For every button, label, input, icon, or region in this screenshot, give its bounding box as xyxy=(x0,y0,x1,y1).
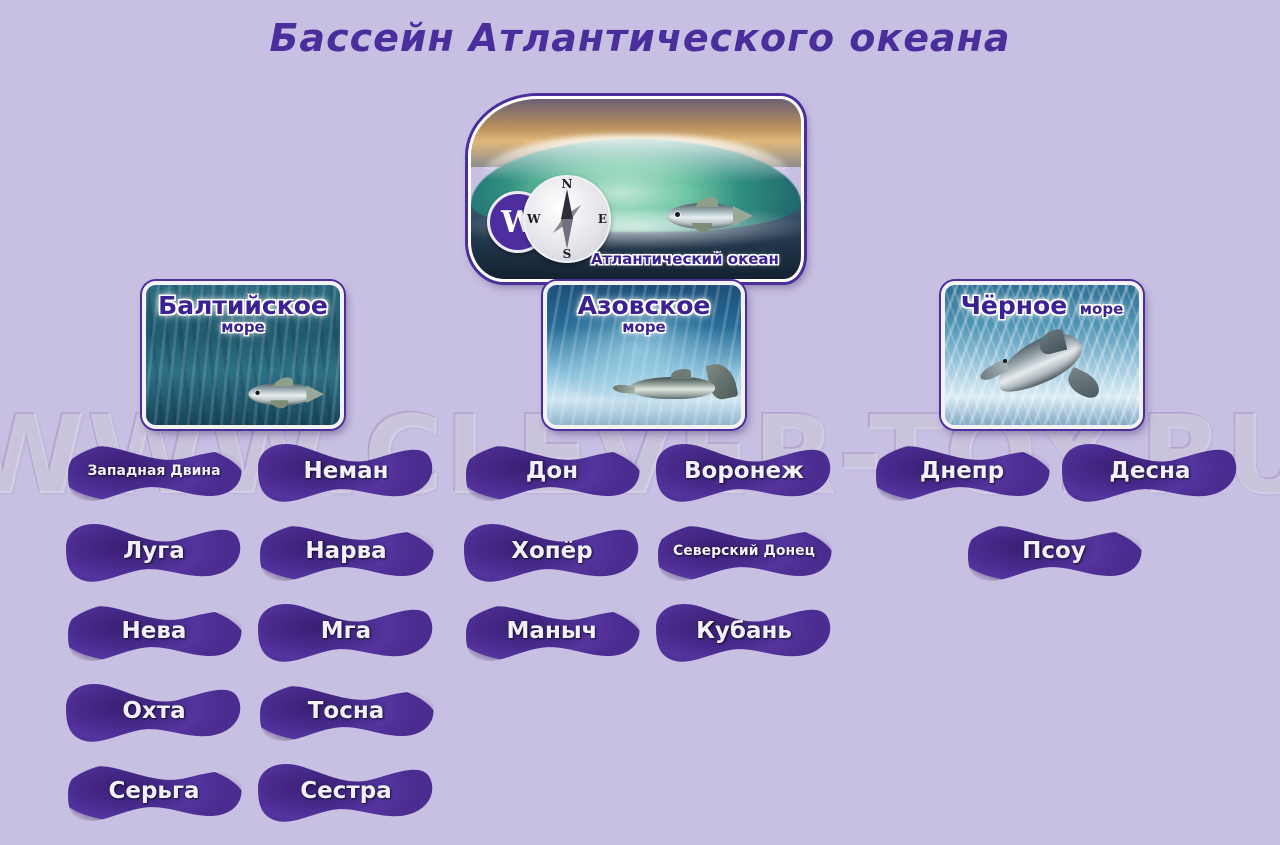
river-blob[interactable]: Кубань xyxy=(652,600,836,662)
river-blob[interactable]: Серьга xyxy=(62,760,246,822)
sea-title-black: Чёрное море xyxy=(945,293,1139,319)
river-blob[interactable]: Маныч xyxy=(460,600,644,662)
ocean-card-atlantic[interactable]: W N E S W Атлантический океан xyxy=(468,96,804,282)
poster-canvas: WWW.CLEVER-TOY.RU Бассейн Атлантического… xyxy=(0,0,1280,845)
river-blob[interactable]: Охта xyxy=(62,680,246,742)
river-blob[interactable]: Псоу xyxy=(962,520,1146,582)
sea-card-black[interactable]: Чёрное море xyxy=(941,281,1143,429)
river-label: Северский Донец xyxy=(673,543,815,559)
river-blob[interactable]: Днепр xyxy=(870,440,1054,502)
river-blob[interactable]: Северский Донец xyxy=(652,520,836,582)
river-label: Нарва xyxy=(305,538,386,564)
river-blob[interactable]: Сестра xyxy=(254,760,438,822)
river-label: Маныч xyxy=(507,618,598,644)
compass-label-north: N xyxy=(562,177,573,191)
river-blob[interactable]: Луга xyxy=(62,520,246,582)
river-label: Воронеж xyxy=(684,458,804,484)
river-blob[interactable]: Хопёр xyxy=(460,520,644,582)
salmon-fish-icon xyxy=(236,383,324,408)
river-label: Хопёр xyxy=(511,538,593,564)
compass-label-east: E xyxy=(598,212,607,226)
sea-kind-baltic: море xyxy=(146,320,340,336)
river-blob[interactable]: Тосна xyxy=(254,680,438,742)
compass-label-west: W xyxy=(527,212,540,226)
sea-kind-azov: море xyxy=(547,320,741,336)
river-label: Псоу xyxy=(1022,538,1086,564)
river-label: Кубань xyxy=(696,618,792,644)
sea-title-baltic: Балтийское море xyxy=(146,293,340,336)
river-label: Дон xyxy=(526,458,578,484)
sea-name-black: Чёрное xyxy=(961,291,1067,320)
sea-name-azov: Азовское xyxy=(547,293,741,319)
dolphin-icon xyxy=(993,329,1103,405)
herring-fish-icon xyxy=(653,203,759,233)
river-blob[interactable]: Десна xyxy=(1058,440,1242,502)
sturgeon-fish-icon xyxy=(613,373,737,413)
sea-name-baltic: Балтийское xyxy=(146,293,340,319)
river-blob[interactable]: Дон xyxy=(460,440,644,502)
river-label: Западная Двина xyxy=(87,463,220,479)
river-label: Луга xyxy=(123,538,185,564)
river-label: Нева xyxy=(122,618,187,644)
river-blob[interactable]: Неман xyxy=(254,440,438,502)
sea-card-baltic[interactable]: Балтийское море xyxy=(142,281,344,429)
river-label: Серьга xyxy=(108,778,199,804)
sea-card-azov[interactable]: Азовское море xyxy=(543,281,745,429)
river-label: Неман xyxy=(303,458,388,484)
river-label: Мга xyxy=(321,618,371,644)
river-blob[interactable]: Западная Двина xyxy=(62,440,246,502)
sea-title-azov: Азовское море xyxy=(547,293,741,336)
river-label: Десна xyxy=(1109,458,1190,484)
river-blob[interactable]: Воронеж xyxy=(652,440,836,502)
compass-cluster: W N E S W xyxy=(487,169,607,265)
river-blob[interactable]: Мга xyxy=(254,600,438,662)
compass-label-south: S xyxy=(563,247,572,261)
sea-kind-black: море xyxy=(1080,300,1123,318)
river-blob[interactable]: Нева xyxy=(62,600,246,662)
river-blob[interactable]: Нарва xyxy=(254,520,438,582)
river-label: Тосна xyxy=(308,698,385,724)
ocean-name-label: Атлантический океан xyxy=(591,250,779,268)
river-label: Днепр xyxy=(920,458,1004,484)
river-label: Сестра xyxy=(300,778,391,804)
page-title: Бассейн Атлантического океана xyxy=(0,16,1280,60)
river-label: Охта xyxy=(122,698,185,724)
